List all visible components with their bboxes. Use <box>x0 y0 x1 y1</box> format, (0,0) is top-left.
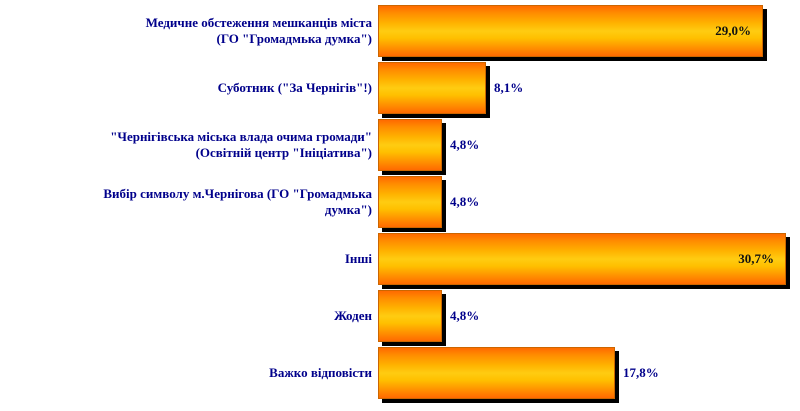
bar <box>378 233 786 285</box>
bar <box>378 119 442 171</box>
bar-container <box>378 62 486 114</box>
category-label: Жоден <box>0 290 372 342</box>
horizontal-bar-chart: Медичне обстеження мешканців міста (ГО "… <box>0 0 800 411</box>
bar-container <box>378 119 442 171</box>
bar-container: 30,7% <box>378 233 786 285</box>
bar <box>378 290 442 342</box>
bar-value-label: 4,8% <box>450 194 479 210</box>
category-label: Вибір символу м.Чернігова (ГО "Громадмьк… <box>0 176 372 228</box>
category-label: Важко відповісти <box>0 347 372 399</box>
category-label: Інші <box>0 233 372 285</box>
bar <box>378 347 615 399</box>
category-label: Медичне обстеження мешканців міста (ГО "… <box>0 5 372 57</box>
bar-value-label: 17,8% <box>623 365 659 381</box>
chart-row: Жоден4,8% <box>0 290 800 342</box>
chart-row: Медичне обстеження мешканців міста (ГО "… <box>0 5 800 57</box>
chart-row: Важко відповісти17,8% <box>0 347 800 399</box>
bar <box>378 62 486 114</box>
category-label: "Чернігівська міська влада очима громади… <box>0 119 372 171</box>
chart-row: Вибір символу м.Чернігова (ГО "Громадмьк… <box>0 176 800 228</box>
bar <box>378 176 442 228</box>
bar-value-label: 30,7% <box>738 251 774 267</box>
bar-value-label: 29,0% <box>715 23 751 39</box>
bar-container <box>378 347 615 399</box>
chart-row: Інші30,7% <box>0 233 800 285</box>
category-label: Суботник ("За Чернігів"!) <box>0 62 372 114</box>
chart-row: "Чернігівська міська влада очима громади… <box>0 119 800 171</box>
bar-value-label: 4,8% <box>450 137 479 153</box>
bar-container <box>378 290 442 342</box>
bar-value-label: 4,8% <box>450 308 479 324</box>
bar <box>378 5 763 57</box>
bar-container: 29,0% <box>378 5 763 57</box>
bar-container <box>378 176 442 228</box>
bar-value-label: 8,1% <box>494 80 523 96</box>
chart-row: Суботник ("За Чернігів"!)8,1% <box>0 62 800 114</box>
